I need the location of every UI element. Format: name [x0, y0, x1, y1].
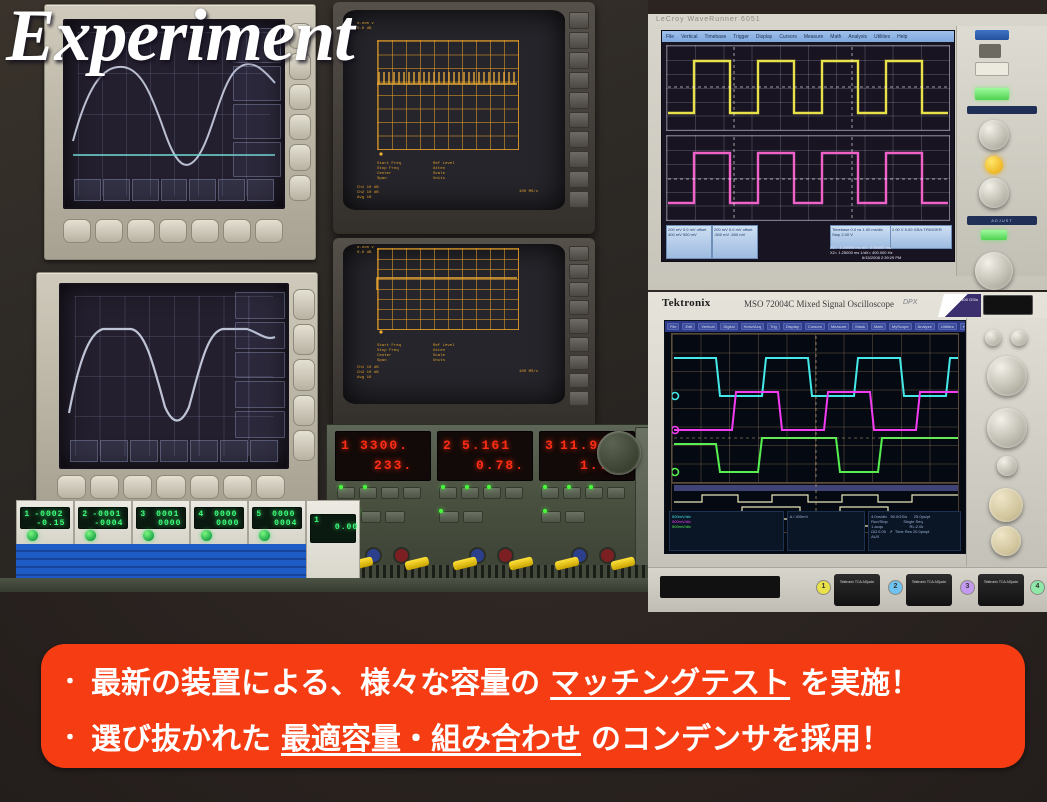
tektronix-channel-1[interactable]: 1 — [816, 580, 831, 595]
lecroy-timestamp: 6/15/2008 2:39:29 PM — [862, 255, 901, 260]
lecroy-channel2-info[interactable]: 200 mV 0.0 mV offset -500 mV -500 mV — [712, 225, 758, 259]
photo-collage: 0.000 V 0.0 dB Start Freq Stop Freq Cent… — [0, 0, 1047, 612]
crt-readout-footer: Ch1 10 dB Ch2 10 dB Avg 16 — [357, 366, 379, 381]
lecroy-front-panel: ADJUST — [956, 26, 1047, 276]
amber-crt-top-keys[interactable] — [569, 12, 589, 208]
amber-crt-bottom-keys[interactable] — [569, 246, 589, 406]
lecroy-amber-indicator[interactable] — [985, 156, 1003, 174]
menu-item-horiz-acq[interactable]: Horiz/Acq — [741, 323, 764, 330]
tektronix-measurement-box[interactable]: 500mV/div 500mV/div 500mV/div — [669, 511, 784, 551]
meas-row-3: 500mV/div — [672, 524, 781, 529]
crt-menu-text: Start Freq Stop Freq Center Span — [377, 344, 401, 364]
lecroy-channel1-info[interactable]: 200 mV 0.0 mV offset 400 mV 900 mV — [666, 225, 712, 259]
green-smu-module: 3 0001 0000 — [132, 500, 190, 546]
tektronix-screen: File Edit Vertical Digital Horiz/Acq Tri… — [664, 320, 966, 554]
menu-item-mask[interactable]: Mask — [852, 323, 868, 330]
psu-status-led — [543, 485, 547, 489]
psu-status-led — [543, 509, 547, 513]
green-smu-4-display: 4 0000 0000 — [194, 507, 243, 529]
menu-item-utilities[interactable]: Utilities — [874, 34, 890, 40]
hp-oscilloscope-bottom — [36, 272, 318, 510]
menu-item-analyze[interactable]: Analyze — [915, 323, 935, 330]
menu-item-display[interactable]: Display — [756, 34, 772, 40]
psu-button[interactable] — [359, 487, 377, 499]
green-smu-1-id: 1 — [24, 510, 30, 519]
green-smu-module: 1 -0002 -0.15 — [16, 500, 74, 546]
red-psu-1-voltage-value: 3300. — [360, 438, 409, 453]
red-psu-2-current-value: 0.78. — [476, 458, 525, 473]
psu-status-led — [439, 509, 443, 513]
red-psu-1-current-value: 233. — [374, 458, 413, 473]
green-smu-5-id: 5 — [256, 510, 262, 519]
lecroy-horizontal-knob[interactable] — [979, 178, 1009, 208]
callout-line-1-pre: 最新の装置による、様々な容量の — [91, 658, 540, 702]
tektronix-channel-3[interactable]: 3 — [960, 580, 975, 595]
green-smu-module: 4 0000 0000 — [190, 500, 248, 546]
green-smu-controller-value: 0.00 — [329, 523, 358, 532]
green-smu-2-bottom-value: -0004 — [94, 519, 123, 528]
green-smu-4-top-value: 0000 — [208, 510, 237, 519]
psu-main-knob[interactable] — [597, 431, 641, 475]
green-smu-module: 2 -0001 -0004 — [74, 500, 132, 546]
psu-button[interactable] — [563, 487, 581, 499]
tektronix-main-knob-2[interactable] — [987, 408, 1027, 448]
menu-item-measure[interactable]: Measure — [804, 34, 823, 40]
menu-item-edit[interactable]: Edit — [682, 323, 695, 330]
psu-status-led — [339, 485, 343, 489]
green-smu-5-top-value: 0000 — [266, 510, 295, 519]
callout-line-2-pre: 選び抜かれた — [91, 714, 271, 758]
green-smu-2-top-value: -0001 — [92, 510, 121, 519]
menu-item-myscope[interactable]: MyScope — [889, 323, 912, 330]
green-smu-3-knob[interactable] — [143, 530, 154, 541]
psu-button[interactable] — [483, 487, 501, 499]
lecroy-gray-button[interactable] — [979, 44, 1001, 58]
crt-sample-rate: 100 MS/s — [519, 370, 538, 375]
menu-item-measure[interactable]: Measure — [828, 323, 850, 330]
lecroy-screen: File Vertical Timebase Trigger Display C… — [661, 30, 955, 262]
crt-menu-text: Start Freq Stop Freq Center Span — [377, 162, 401, 182]
menu-item-display[interactable]: Display — [783, 323, 802, 330]
callout-line-2-emphasis: 最適容量・組み合わせ — [281, 714, 581, 758]
psu-button[interactable] — [361, 511, 381, 523]
green-smu-4-bottom-value: 0000 — [210, 519, 239, 528]
amber-crt-monitor-top: 0.000 V 0.0 dB Start Freq Stop Freq Cent… — [333, 2, 595, 234]
menu-item-digital[interactable]: Digital — [720, 323, 737, 330]
green-smu-3-id: 3 — [140, 510, 146, 519]
menu-item-math[interactable]: Math — [871, 323, 886, 330]
crt-readout-top: 0.000 V 0.0 dB — [357, 22, 374, 32]
green-smu-2-id: 2 — [82, 510, 88, 519]
menu-item-file[interactable]: File — [666, 34, 674, 40]
lecroy-white-button[interactable] — [975, 62, 1009, 76]
tektronix-acquisition-box[interactable]: 4.0ns/div 50.0GS/s 25.0ps/pt Run/Stop Si… — [868, 511, 961, 551]
psu-status-led — [487, 485, 491, 489]
green-smu-3-bottom-value: 0000 — [152, 519, 181, 528]
green-smu-3-top-value: 0001 — [150, 510, 179, 519]
green-smu-1-knob[interactable] — [27, 530, 38, 541]
psu-button[interactable] — [381, 487, 399, 499]
menu-item-vertical[interactable]: Vertical — [698, 323, 717, 330]
menu-item-timebase[interactable]: Timebase — [704, 34, 726, 40]
tektronix-channel-4[interactable]: 4 — [1030, 580, 1045, 595]
menu-item-cursors[interactable]: Cursors — [779, 34, 797, 40]
menu-item-help[interactable]: Help — [897, 34, 907, 40]
tektronix-vertical-position-knob[interactable] — [1011, 330, 1027, 346]
psu-button[interactable] — [565, 511, 585, 523]
tektronix-channel-2[interactable]: 2 — [888, 580, 903, 595]
crt-sample-rate: 100 MS/s — [519, 190, 538, 195]
page-title: Experiment — [6, 0, 354, 79]
tektronix-position-knob[interactable] — [991, 526, 1021, 556]
psu-button[interactable] — [505, 487, 523, 499]
green-smu-4-knob[interactable] — [201, 530, 212, 541]
tektronix-menu-bar[interactable]: File Edit Vertical Digital Horiz/Acq Tri… — [665, 321, 965, 332]
lecroy-oscilloscope-photo: LeCroy WaveRunner 6051 File Vertical Tim… — [648, 0, 1047, 290]
green-smu-controller-display: 1 0.00 — [310, 514, 356, 544]
hp-scope-bottom-screen — [59, 283, 289, 469]
menu-item-analysis[interactable]: Analysis — [848, 34, 867, 40]
red-psu-2-voltage-value: 5.161 — [462, 438, 511, 453]
green-smu-4-id: 4 — [198, 510, 204, 519]
crt-readout-bottom: 0.000 V 0.0 dB — [357, 246, 374, 256]
psu-button[interactable] — [385, 511, 405, 523]
green-smu-5-bottom-value: 0004 — [268, 519, 297, 528]
green-smu-5-knob[interactable] — [259, 530, 270, 541]
red-psu-display-1: 1 3300. 233. — [335, 431, 431, 481]
psu-button[interactable] — [461, 487, 479, 499]
red-psu-rack: 1 3300. 233. 2 5.161 0.78. 3 11.904 1.79… — [326, 424, 648, 592]
red-psu-3-id: 3 — [545, 438, 555, 453]
hp-scope-bottom-menu-column[interactable] — [235, 292, 285, 438]
tektronix-offset-knob[interactable] — [997, 456, 1017, 476]
analog-waveforms — [672, 334, 960, 482]
tektronix-header: Tektronix MSO 72004C Mixed Signal Oscill… — [648, 292, 1047, 318]
menu-item-file[interactable]: File — [667, 323, 679, 330]
green-smu-3-display: 3 0001 0000 — [136, 507, 185, 529]
menu-item-cursors[interactable]: Cursors — [805, 323, 825, 330]
menu-item-vertical[interactable]: Vertical — [681, 34, 697, 40]
tektronix-probe-1: Tektronix TCA-N2pole — [834, 574, 880, 606]
tektronix-counter-display — [983, 295, 1033, 315]
tektronix-bandwidth-badge: 20 GHz 100 GS/s — [938, 294, 981, 317]
green-smu-1-display: 1 -0002 -0.15 — [20, 507, 69, 529]
psu-status-led — [465, 485, 469, 489]
tektronix-probe-3: Tektronix TCA-N2pole — [978, 574, 1024, 606]
crt-menu-text-2: Ref Level Atten Scale Units — [433, 162, 455, 182]
psu-status-led — [567, 485, 571, 489]
bullet-icon: ・ — [59, 664, 81, 696]
hp-scope-bottom-bottom-menu[interactable] — [70, 440, 278, 462]
green-smu-1-top-value: -0002 — [34, 510, 63, 519]
green-smu-2-display: 2 -0001 -0004 — [78, 507, 127, 529]
lab-bench-photo: 0.000 V 0.0 dB Start Freq Stop Freq Cent… — [0, 0, 648, 592]
psu-button[interactable] — [607, 487, 625, 499]
lecroy-green-button[interactable] — [975, 88, 1009, 100]
callout-line-1-post: を実施！ — [800, 658, 920, 702]
tektronix-main-knob-1[interactable] — [987, 356, 1027, 396]
tektronix-analog-plot — [671, 333, 959, 483]
green-smu-1-bottom-value: -0.15 — [36, 519, 65, 528]
lecroy-vertical-knob[interactable] — [979, 120, 1009, 150]
callout-box: ・ 最新の装置による、様々な容量の マッチングテスト を実施！ ・ 選び抜かれた… — [41, 644, 1025, 768]
tektronix-brand: Tektronix — [662, 297, 711, 309]
hp-scope-bottom-softkeys[interactable] — [55, 475, 287, 497]
red-psu-display-2: 2 5.161 0.78. — [437, 431, 533, 481]
tektronix-slot — [660, 576, 780, 598]
lecroy-adjust-knob[interactable] — [975, 252, 1013, 290]
amber-crt-monitor-bottom: 0.000 V 0.0 dB Start Freq Stop Freq Cent… — [333, 238, 595, 428]
green-smu-5-display: 5 0000 0004 — [252, 507, 301, 529]
channel2-waveform — [666, 135, 950, 221]
connector-panel-strip — [0, 578, 648, 592]
red-psu-1-voltage: 1 — [341, 438, 351, 453]
green-smu-2-knob[interactable] — [85, 530, 96, 541]
photo-top-edge — [648, 0, 1047, 14]
menu-item-math[interactable]: Math — [830, 34, 841, 40]
tektronix-status-bar: 500mV/div 500mV/div 500mV/div A / 400mV … — [669, 511, 961, 551]
lecroy-channel1-pane — [666, 45, 950, 131]
slide-canvas: 0.000 V 0.0 dB Start Freq Stop Freq Cent… — [0, 0, 1047, 802]
psu-status-led — [363, 485, 367, 489]
psu-button[interactable] — [585, 487, 603, 499]
bullet-icon: ・ — [59, 720, 81, 752]
psu-button[interactable] — [439, 511, 459, 523]
tektronix-input-panel: 1 Tektronix TCA-N2pole 2 Tektronix TCA-N… — [648, 567, 1047, 612]
tektronix-oscilloscope-photo: Tektronix MSO 72004C Mixed Signal Oscill… — [648, 292, 1047, 612]
callout-line-2-post: のコンデンサを採用！ — [591, 714, 891, 758]
hp-scope-top-bottom-menu[interactable] — [74, 179, 275, 201]
hp-scope-bottom-side-softkeys[interactable] — [293, 287, 313, 463]
amber-crt-bottom-screen: 0.000 V 0.0 dB Start Freq Stop Freq Cent… — [343, 244, 565, 404]
callout-line-1-emphasis: マッチングテスト — [550, 658, 790, 702]
lecroy-menu-bar[interactable]: File Vertical Timebase Trigger Display C… — [662, 31, 954, 42]
callout-line-1: ・ 最新の装置による、様々な容量の マッチングテスト を実施！ — [59, 658, 1011, 702]
lecroy-run-indicator[interactable] — [981, 230, 1007, 240]
psu-button[interactable] — [463, 511, 483, 523]
menu-item-trigger[interactable]: Trigger — [733, 34, 749, 40]
lecroy-blue-button[interactable] — [975, 30, 1009, 40]
green-smu-controller-id: 1 — [314, 516, 320, 525]
lecroy-channel2-pane — [666, 135, 950, 221]
tektronix-horizontal-knob[interactable] — [989, 488, 1023, 522]
tektronix-model: MSO 72004C Mixed Signal Oscilloscope — [744, 299, 894, 309]
psu-status-led — [441, 485, 445, 489]
menu-item-utilities[interactable]: Utilities — [938, 323, 957, 330]
lecroy-adjust-label: ADJUST — [967, 216, 1037, 225]
psu-status-led — [589, 485, 593, 489]
green-smu-module: 5 0000 0004 — [248, 500, 306, 546]
red-psu-2-id: 2 — [443, 438, 453, 453]
lecroy-trigger-info[interactable]: 2.00 V 5.00 GS/s TRIGGER — [890, 225, 952, 249]
hp-scope-top-softkeys[interactable] — [61, 219, 285, 241]
channel1-waveform — [666, 45, 950, 131]
crt-readout-footer: Ch1 10 dB Ch2 10 dB Avg 16 — [357, 186, 379, 201]
callout-line-2: ・ 選び抜かれた 最適容量・組み合わせ のコンデンサを採用！ — [59, 714, 1011, 758]
crt-menu-text-2: Ref Level Atten Scale Units — [433, 344, 455, 364]
tektronix-vertical-scale-knob[interactable] — [985, 330, 1001, 346]
amber-crt-top-screen: 0.000 V 0.0 dB Start Freq Stop Freq Cent… — [343, 10, 565, 210]
tektronix-dpx-label: DPX — [903, 299, 917, 306]
tektronix-probe-2: Tektronix TCA-N2pole — [906, 574, 952, 606]
lecroy-section-bar — [967, 106, 1037, 114]
tektronix-trigger-box[interactable]: A / 400mV — [787, 511, 865, 551]
psu-button[interactable] — [403, 487, 421, 499]
menu-item-trig[interactable]: Trig — [767, 323, 780, 330]
tektronix-front-panel — [966, 318, 1047, 566]
